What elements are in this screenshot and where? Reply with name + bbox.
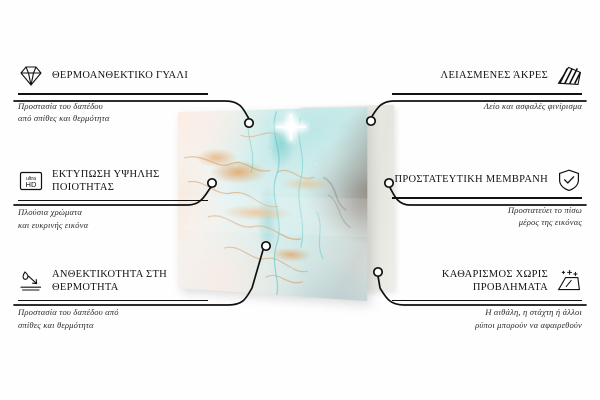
- feature-polished-edges: ΛΕΙΑΣΜΕΝΕΣ ΆΚΡΕΣ Λείο και ασφαλές φινίρι…: [392, 64, 582, 112]
- feature-high-quality-print: ultra HD ΕΚΤΥΠΩΣΗ ΥΨΗΛΗΣ ΠΟΙΟΤΗΤΑΣ Πλούσ…: [18, 168, 208, 231]
- divider: [18, 200, 208, 202]
- feature-description: Η αιθάλη, η στάχτη ή άλλοιρύποι μπορούν …: [392, 306, 582, 331]
- feature-description: Προστατεύει το πίσωμέρος της εικόνας: [392, 204, 582, 229]
- callout-dot-top-right[interactable]: [367, 117, 375, 125]
- callout-dot-mid-left[interactable]: [208, 179, 216, 187]
- feature-description: Πλούσια χρώματακαι ευκρινής εικόνα: [18, 206, 208, 231]
- feature-title: ΠΡΟΣΤΑΤΕΥΤΙΚΗ ΜΕΜΒΡΑΝΗ: [394, 173, 548, 186]
- feature-title: ΘΕΡΜΟΑΝΘΕΚΤΙΚΟ ΓΥΑΛΙ: [52, 69, 188, 82]
- divider: [392, 197, 582, 199]
- feature-description: Προστασία του δαπέδουαπό σπίθες και θερμ…: [18, 100, 208, 125]
- feature-title: ΕΚΤΥΠΩΣΗ ΥΨΗΛΗΣ ΠΟΙΟΤΗΤΑΣ: [52, 168, 208, 195]
- feature-title: ΛΕΙΑΣΜΕΝΕΣ ΆΚΡΕΣ: [441, 69, 548, 82]
- feature-description: Προστασία του δαπέδου απόσπίθες και θερμ…: [18, 306, 208, 331]
- heat-resistance-icon: [18, 269, 44, 293]
- feature-title: ΚΑΘΑΡΙΣΜΟΣ ΧΩΡΙΣ ΠΡΟΒΛΗΜΑΤΑ: [392, 268, 548, 295]
- ultra-hd-icon: ultra HD: [18, 169, 44, 193]
- divider: [392, 93, 582, 95]
- divider: [18, 300, 208, 302]
- shield-check-icon: [556, 168, 582, 192]
- easy-clean-sparkle-icon: [556, 269, 582, 293]
- callout-dot-bottom-left[interactable]: [262, 242, 270, 250]
- feature-description: Λείο και ασφαλές φινίρισμα: [392, 100, 582, 112]
- feature-heat-resistance: ΑΝΘΕΚΤΙΚΟΤΗΤΑ ΣΤΗ ΘΕΡΜΟΤΗΤΑ Προστασία το…: [18, 268, 208, 331]
- divider: [18, 93, 208, 95]
- polished-edges-icon: [556, 64, 582, 88]
- callout-dot-top-left[interactable]: [245, 119, 253, 127]
- callout-dot-bottom-right[interactable]: [374, 268, 382, 276]
- diamond-icon: [18, 64, 44, 88]
- infographic-canvas: ΘΕΡΜΟΑΝΘΕΚΤΙΚΟ ΓΥΑΛΙ Προστασία του δαπέδ…: [0, 0, 600, 400]
- feature-title: ΑΝΘΕΚΤΙΚΟΤΗΤΑ ΣΤΗ ΘΕΡΜΟΤΗΤΑ: [52, 268, 208, 295]
- divider: [392, 300, 582, 302]
- feature-heat-resistant-glass: ΘΕΡΜΟΑΝΘΕΚΤΙΚΟ ΓΥΑΛΙ Προστασία του δαπέδ…: [18, 64, 208, 125]
- feature-protective-membrane: ΠΡΟΣΤΑΤΕΥΤΙΚΗ ΜΕΜΒΡΑΝΗ Προστατεύει το πί…: [392, 168, 582, 229]
- feature-easy-cleaning: ΚΑΘΑΡΙΣΜΟΣ ΧΩΡΙΣ ΠΡΟΒΛΗΜΑΤΑ Η αιθάλη, η …: [392, 268, 582, 331]
- svg-text:HD: HD: [26, 181, 37, 190]
